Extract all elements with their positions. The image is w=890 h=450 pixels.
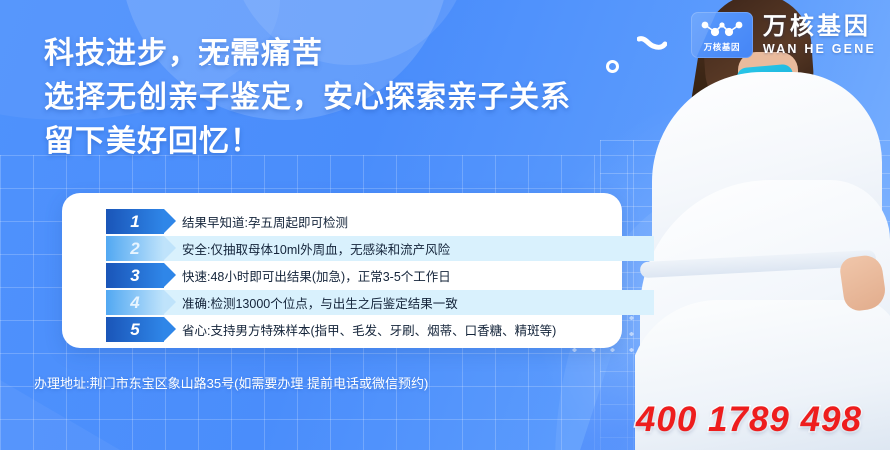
pregnant-woman-photo bbox=[635, 0, 890, 450]
feature-number-badge: 5 bbox=[106, 317, 164, 342]
logo-badge-label: 万核基因 bbox=[704, 41, 740, 53]
headline-line-2: 选择无创亲子鉴定，安心探索亲子关系 bbox=[44, 78, 571, 118]
molecule-icon bbox=[699, 17, 745, 40]
list-item: 1 结果早知道:孕五周起即可检测 bbox=[106, 209, 626, 234]
circle-outline-icon bbox=[606, 60, 619, 73]
feature-number-badge: 2 bbox=[106, 236, 164, 261]
feature-number-badge: 3 bbox=[106, 263, 164, 288]
hotline-number[interactable]: 400 1789 498 bbox=[636, 400, 862, 440]
feature-number: 5 bbox=[130, 320, 139, 340]
list-item: 2 安全:仅抽取母体10ml外周血，无感染和流产风险 bbox=[106, 236, 626, 261]
headline: 科技进步，无需痛苦 选择无创亲子鉴定，安心探索亲子关系 留下美好回忆！ bbox=[44, 36, 571, 162]
feature-number-badge: 4 bbox=[106, 290, 164, 315]
feature-text: 省心:支持男方特殊样本(指甲、毛发、牙刷、烟蒂、口香糖、精斑等) bbox=[182, 320, 556, 339]
headline-line-1-text: 科技进步，无需痛苦 bbox=[44, 37, 323, 70]
list-item: 4 准确:检测13000个位点，与出生之后鉴定结果一致 bbox=[106, 290, 626, 315]
brand-name-cn: 万核基因 bbox=[763, 15, 876, 39]
feature-number: 1 bbox=[130, 212, 139, 232]
feature-text: 快速:48小时即可出结果(加急)，正常3-5个工作日 bbox=[182, 266, 451, 285]
feature-text: 安全:仅抽取母体10ml外周血，无感染和流产风险 bbox=[182, 239, 450, 258]
headline-line-1: 科技进步，无需痛苦 bbox=[44, 36, 571, 72]
feature-list: 1 结果早知道:孕五周起即可检测 2 安全:仅抽取母体10ml外周血，无感染和流… bbox=[106, 209, 626, 344]
dot-grid-icon-headline bbox=[196, 43, 242, 65]
brand-logo[interactable]: 万核基因 万核基因 WAN HE GENE bbox=[691, 12, 876, 58]
feature-number: 2 bbox=[130, 239, 139, 259]
logo-badge: 万核基因 bbox=[691, 12, 753, 58]
feature-text: 结果早知道:孕五周起即可检测 bbox=[182, 212, 348, 231]
feature-number: 3 bbox=[130, 266, 139, 286]
office-address: 办理地址:荆门市东宝区象山路35号(如需要办理 提前电话或微信预约) bbox=[34, 373, 428, 392]
feature-card: 1 结果早知道:孕五周起即可检测 2 安全:仅抽取母体10ml外周血，无感染和流… bbox=[62, 193, 622, 348]
headline-line-3: 留下美好回忆！ bbox=[44, 122, 571, 162]
list-item: 3 快速:48小时即可出结果(加急)，正常3-5个工作日 bbox=[106, 263, 626, 288]
feature-number: 4 bbox=[130, 293, 139, 313]
logo-text: 万核基因 WAN HE GENE bbox=[763, 15, 876, 56]
promo-banner: 万核基因 万核基因 WAN HE GENE 科技进步，无需痛苦 选择无创亲子鉴定… bbox=[0, 0, 890, 450]
feature-text: 准确:检测13000个位点，与出生之后鉴定结果一致 bbox=[182, 293, 458, 312]
brand-name-en: WAN HE GENE bbox=[763, 43, 876, 56]
feature-number-badge: 1 bbox=[106, 209, 164, 234]
list-item: 5 省心:支持男方特殊样本(指甲、毛发、牙刷、烟蒂、口香糖、精斑等) bbox=[106, 317, 626, 342]
